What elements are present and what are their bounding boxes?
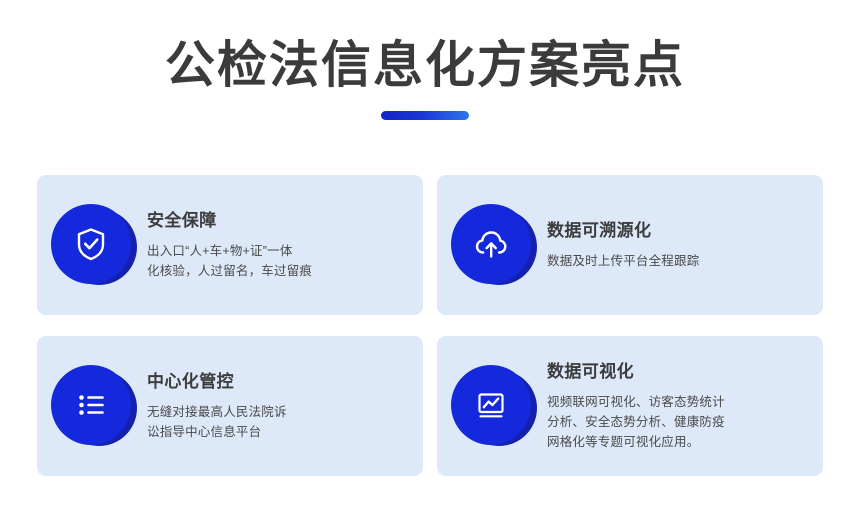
card-icon-badge [451, 365, 533, 447]
feature-card[interactable]: 中心化管控 无缝对接最高人民法院诉 讼指导中心信息平台 [37, 336, 423, 476]
badge-front-circle [451, 365, 531, 445]
feature-card[interactable]: 数据可溯源化 数据及时上传平台全程跟踪 [437, 175, 823, 315]
card-heading: 安全保障 [147, 210, 411, 232]
feature-card[interactable]: 数据可视化 视频联网可视化、访客态势统计 分析、安全态势分析、健康防疫 网格化等… [437, 336, 823, 476]
card-icon-badge [51, 365, 133, 447]
page-root: 公检法信息化方案亮点 安全保障 出入口“人+车+物+证”一体 化 [0, 0, 850, 516]
badge-front-circle [451, 204, 531, 284]
card-description: 无缝对接最高人民法院诉 讼指导中心信息平台 [147, 402, 411, 442]
page-title: 公检法信息化方案亮点 [0, 34, 850, 96]
badge-front-circle [51, 365, 131, 445]
card-text-block: 数据可视化 视频联网可视化、访客态势统计 分析、安全态势分析、健康防疫 网格化等… [547, 361, 823, 452]
card-heading: 数据可溯源化 [547, 220, 811, 242]
card-text-block: 数据可溯源化 数据及时上传平台全程跟踪 [547, 220, 823, 271]
card-text-block: 中心化管控 无缝对接最高人民法院诉 讼指导中心信息平台 [147, 371, 423, 442]
cloud-upload-icon [470, 223, 512, 265]
feature-card-grid: 安全保障 出入口“人+车+物+证”一体 化核验，人过留名，车过留痕 [37, 175, 823, 476]
card-icon-badge [51, 204, 133, 286]
bulleted-list-icon [71, 385, 111, 425]
badge-front-circle [51, 204, 131, 284]
chart-monitor-icon [471, 385, 511, 425]
card-text-block: 安全保障 出入口“人+车+物+证”一体 化核验，人过留名，车过留痕 [147, 210, 423, 281]
shield-check-icon [71, 224, 111, 264]
card-heading: 中心化管控 [147, 371, 411, 393]
card-heading: 数据可视化 [547, 361, 811, 383]
page-header: 公检法信息化方案亮点 [0, 0, 850, 120]
card-description: 视频联网可视化、访客态势统计 分析、安全态势分析、健康防疫 网格化等专题可视化应… [547, 392, 811, 452]
card-icon-badge [451, 204, 533, 286]
card-description: 数据及时上传平台全程跟踪 [547, 251, 811, 271]
card-description: 出入口“人+车+物+证”一体 化核验，人过留名，车过留痕 [147, 241, 411, 281]
feature-card[interactable]: 安全保障 出入口“人+车+物+证”一体 化核验，人过留名，车过留痕 [37, 175, 423, 315]
title-underline-bar [381, 111, 469, 120]
